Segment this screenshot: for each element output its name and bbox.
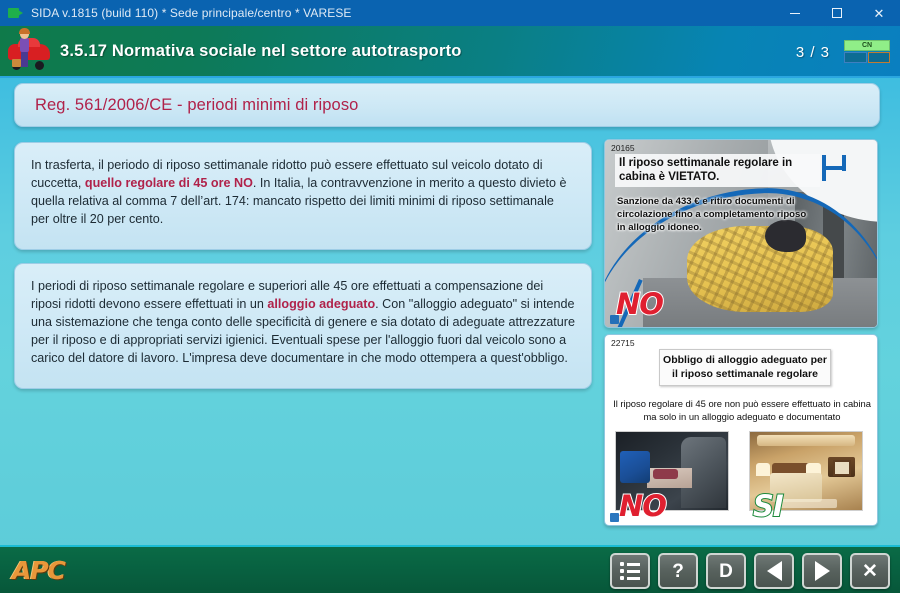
maximize-button[interactable] — [816, 0, 858, 26]
close-button[interactable]: ✕ — [850, 553, 890, 589]
status-cell-left — [844, 52, 867, 63]
watermark-logo-icon — [610, 513, 619, 522]
watermark-logo-icon — [610, 315, 619, 324]
section-banner-title: Reg. 561/2006/CE - periodi minimi di rip… — [35, 96, 358, 115]
window-titlebar[interactable]: SIDA v.1815 (build 110) * Sede principal… — [0, 0, 900, 26]
minimize-icon — [790, 13, 800, 14]
card-subtext: Il riposo regolare di 45 ore non può ess… — [613, 398, 871, 423]
app-header: 3.5.17 Normativa sociale nel settore aut… — [0, 26, 900, 78]
card-id: 22715 — [611, 338, 635, 348]
header-right-group: 3 / 3 CN — [796, 26, 890, 78]
list-icon — [620, 562, 640, 580]
card-caption: Il riposo settimanale regolare in cabina… — [615, 154, 820, 187]
text-panel: I periodi di riposo settimanale regolare… — [14, 263, 592, 389]
card-subtext: Sanzione da 433 € e ritiro documenti di … — [617, 196, 813, 235]
si-badge: SI — [753, 492, 783, 521]
page-title: 3.5.17 Normativa sociale nel settore aut… — [60, 42, 462, 61]
triangle-left-icon — [767, 561, 782, 581]
maximize-icon — [832, 8, 842, 18]
help-button[interactable]: ? — [658, 553, 698, 589]
dictionary-button[interactable]: D — [706, 553, 746, 589]
minimize-button[interactable] — [774, 0, 816, 26]
window-title: SIDA v.1815 (build 110) * Sede principal… — [31, 6, 352, 20]
next-button[interactable] — [802, 553, 842, 589]
status-badge: CN — [844, 40, 890, 64]
status-cell-right — [868, 52, 891, 63]
close-window-button[interactable]: ✕ — [858, 0, 900, 26]
toolbar-buttons: ? D ✕ — [610, 553, 890, 589]
triangle-right-icon — [815, 561, 830, 581]
illustration-card[interactable]: 22715 Obbligo di alloggio adeguato per i… — [604, 334, 878, 526]
illustration-card[interactable]: 20165 Il riposo settimanale regolare in … — [604, 139, 878, 328]
no-badge: NO — [619, 492, 666, 521]
text-panel: In trasferta, il periodo di riposo setti… — [14, 142, 592, 250]
apc-logo: APC — [12, 556, 65, 585]
window-controls: ✕ — [774, 0, 900, 26]
card-id: 20165 — [611, 143, 635, 153]
status-badge-cells — [844, 52, 890, 63]
section-banner: Reg. 561/2006/CE - periodi minimi di rip… — [14, 83, 880, 127]
status-badge-label: CN — [844, 40, 890, 51]
no-badge: NO — [616, 290, 663, 319]
panel-paragraph: In trasferta, il periodo di riposo setti… — [31, 157, 575, 229]
truck-symbol-icon — [820, 155, 850, 181]
bottom-toolbar: APC ? D ✕ — [0, 545, 900, 593]
index-button[interactable] — [610, 553, 650, 589]
page-indicator: 3 / 3 — [796, 44, 830, 61]
video-camera-icon — [8, 6, 24, 20]
previous-button[interactable] — [754, 553, 794, 589]
card-title: Obbligo di alloggio adeguato per il ripo… — [659, 349, 831, 386]
panel-paragraph: I periodi di riposo settimanale regolare… — [31, 278, 575, 367]
mascot-icon — [2, 26, 54, 76]
